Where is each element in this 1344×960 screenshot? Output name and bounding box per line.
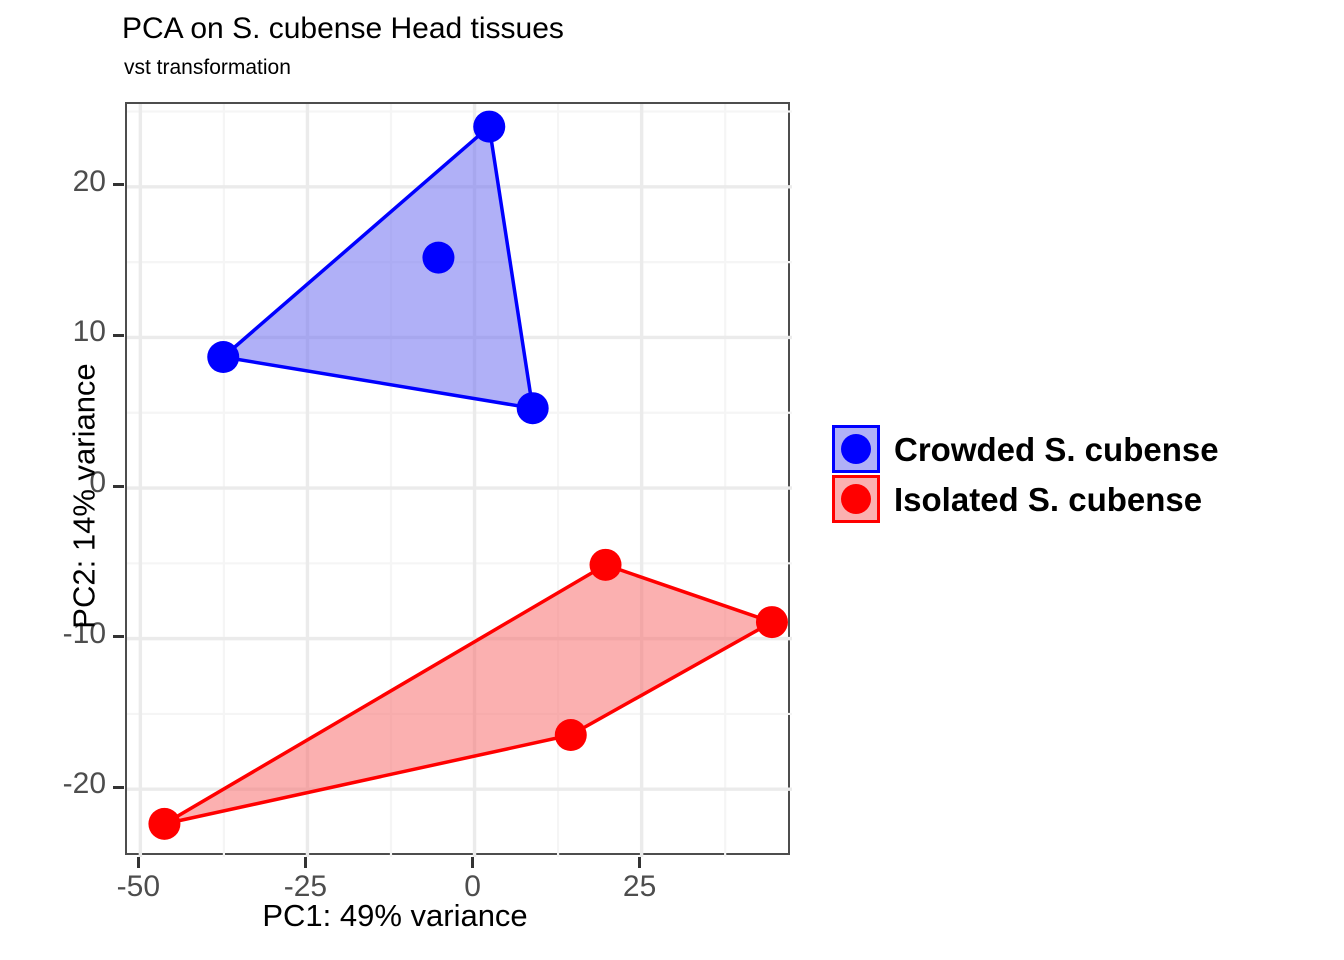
y-tick-mark [113, 635, 124, 638]
hull-polygon [223, 127, 532, 409]
y-tick-mark [113, 183, 124, 186]
legend-label-crowded: Crowded S. cubense [894, 433, 1219, 466]
x-tick-mark [471, 857, 474, 868]
legend: Crowded S. cubense Isolated S. cubense [832, 425, 1219, 523]
y-tick-mark [113, 334, 124, 337]
legend-key-isolated-icon [832, 475, 880, 523]
data-point[interactable] [590, 549, 622, 581]
legend-item-isolated[interactable]: Isolated S. cubense [832, 475, 1219, 523]
data-point[interactable] [555, 719, 587, 751]
x-axis-title: PC1: 49% variance [0, 898, 790, 934]
pca-figure: PCA on S. cubense Head tissues vst trans… [0, 0, 1344, 960]
data-point[interactable] [207, 341, 239, 373]
x-tick-mark [137, 857, 140, 868]
hull-polygon [164, 565, 772, 824]
scatter-plot-canvas [127, 104, 792, 857]
group-hull-polygons [164, 127, 772, 824]
x-tick-mark [304, 857, 307, 868]
chart-title: PCA on S. cubense Head tissues [122, 12, 564, 46]
y-axis-title: PC2: 14% variance [67, 120, 103, 873]
y-tick-mark [113, 485, 124, 488]
y-tick-mark [113, 786, 124, 789]
chart-subtitle: vst transformation [124, 56, 291, 80]
data-point[interactable] [148, 808, 180, 840]
legend-key-crowded-icon [832, 425, 880, 473]
plot-panel [125, 102, 790, 855]
legend-label-isolated: Isolated S. cubense [894, 483, 1202, 516]
data-point[interactable] [517, 392, 549, 424]
data-point[interactable] [422, 242, 454, 274]
legend-item-crowded[interactable]: Crowded S. cubense [832, 425, 1219, 473]
data-point[interactable] [756, 606, 788, 638]
data-point[interactable] [473, 111, 505, 143]
x-tick-mark [638, 857, 641, 868]
